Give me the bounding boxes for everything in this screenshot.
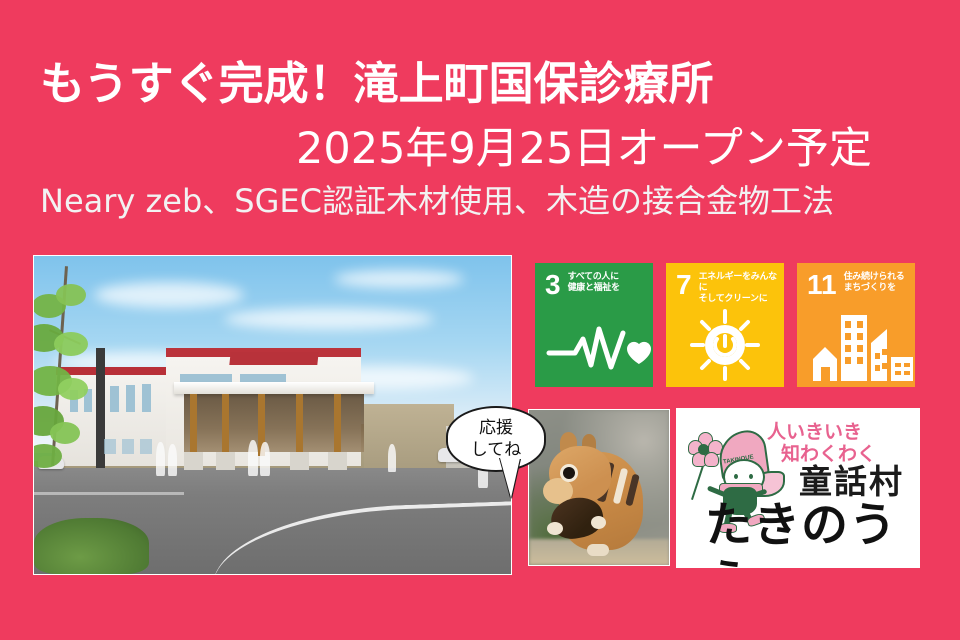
- column-base: [328, 452, 347, 470]
- wood-column: [296, 394, 303, 456]
- leaf-cluster: [54, 332, 88, 356]
- sdg-badge-row: 3 すべての人に 健康と福祉を 7 エネルギーをみんなに そしてクリーンに: [535, 263, 915, 387]
- figure: [388, 444, 396, 472]
- features-line: Neary zeb、SGEC認証木材使用、木造の接合金物工法: [40, 182, 834, 220]
- figure: [168, 444, 177, 476]
- sdg-badge-3-caption: すべての人に 健康と福祉を: [568, 272, 620, 294]
- chipmunk-paw: [547, 522, 563, 535]
- cloud: [334, 270, 464, 288]
- leaf-cluster: [56, 284, 86, 306]
- sdg-badge-7-header: 7 エネルギーをみんなに そしてクリーンに: [666, 263, 784, 305]
- sdg-badge-11-number: 11: [807, 272, 837, 298]
- column-base: [290, 452, 309, 470]
- sdg-badge-3-header: 3 すべての人に 健康と福祉を: [535, 263, 653, 298]
- heartbeat-icon: [535, 309, 653, 381]
- open-date-line: 2025年9月25日オープン予定: [296, 124, 872, 174]
- column-base: [216, 452, 235, 470]
- figure: [260, 442, 270, 476]
- mascot-eye: [734, 474, 738, 479]
- town-logo[interactable]: TAKINOUE 人いきいき 知わくわく 童話村 たきのう: [676, 408, 920, 568]
- chipmunk-paw: [591, 516, 606, 529]
- sun-power-icon: [666, 309, 784, 381]
- sdg-badge-11-header: 11 住み続けられる まちづくりを: [797, 263, 915, 298]
- cherry-blossom-icon: [689, 435, 719, 465]
- chipmunk-foot: [587, 544, 609, 556]
- wood-column: [222, 394, 229, 456]
- speech-bubble-tail: [500, 458, 520, 498]
- mascot-eye: [749, 474, 753, 479]
- city-buildings-icon: [797, 309, 915, 381]
- wood-column: [190, 394, 197, 456]
- leaf-cluster: [58, 378, 88, 400]
- speech-bubble: 応援 してね: [446, 406, 546, 472]
- figure: [248, 440, 258, 476]
- sdg-badge-7-number: 7: [676, 272, 692, 298]
- sdg-badge-11-caption: 住み続けられる まちづくりを: [844, 272, 905, 294]
- page-title: もうすぐ完成！滝上町国保診療所: [40, 58, 714, 110]
- sdg-badge-7[interactable]: 7 エネルギーをみんなに そしてクリーンに: [666, 263, 784, 387]
- foreground-tree: [33, 266, 144, 481]
- lot-marking: [34, 492, 184, 495]
- sdg-badge-3[interactable]: 3 すべての人に 健康と福祉を: [535, 263, 653, 387]
- column-base: [184, 452, 203, 470]
- poster-canvas: もうすぐ完成！滝上町国保診療所 2025年9月25日オープン予定 Neary z…: [0, 0, 960, 640]
- leaf-cluster: [50, 422, 80, 444]
- sdg-badge-11[interactable]: 11 住み続けられる まちづくりを: [797, 263, 915, 387]
- chipmunk-eye: [563, 467, 575, 479]
- wood-column: [334, 394, 341, 456]
- town-logo-tagline: 人いきいき 知わくわく: [767, 421, 919, 465]
- town-logo-inner: TAKINOUE 人いきいき 知わくわく 童話村 たきのう: [681, 413, 915, 563]
- town-logo-title-middle: 童話村: [799, 465, 904, 499]
- town-logo-tagline-line1: 人いきいき: [767, 421, 862, 443]
- leaf-cluster: [33, 444, 62, 468]
- sdg-badge-3-number: 3: [545, 272, 561, 298]
- figure: [156, 442, 165, 476]
- building-render-photo: [33, 255, 512, 575]
- speech-bubble-line1: 応援: [479, 417, 513, 439]
- shrubbery: [34, 518, 149, 574]
- entry-red-roof: [229, 352, 318, 365]
- sdg-badge-7-caption: エネルギーをみんなに そしてクリーンに: [699, 272, 784, 305]
- chipmunk-photo: [528, 409, 670, 566]
- entrance-canopy: [174, 382, 374, 394]
- flower-center: [698, 444, 709, 455]
- town-logo-title-main: たきのうぇ: [705, 501, 915, 568]
- cloud: [224, 308, 434, 330]
